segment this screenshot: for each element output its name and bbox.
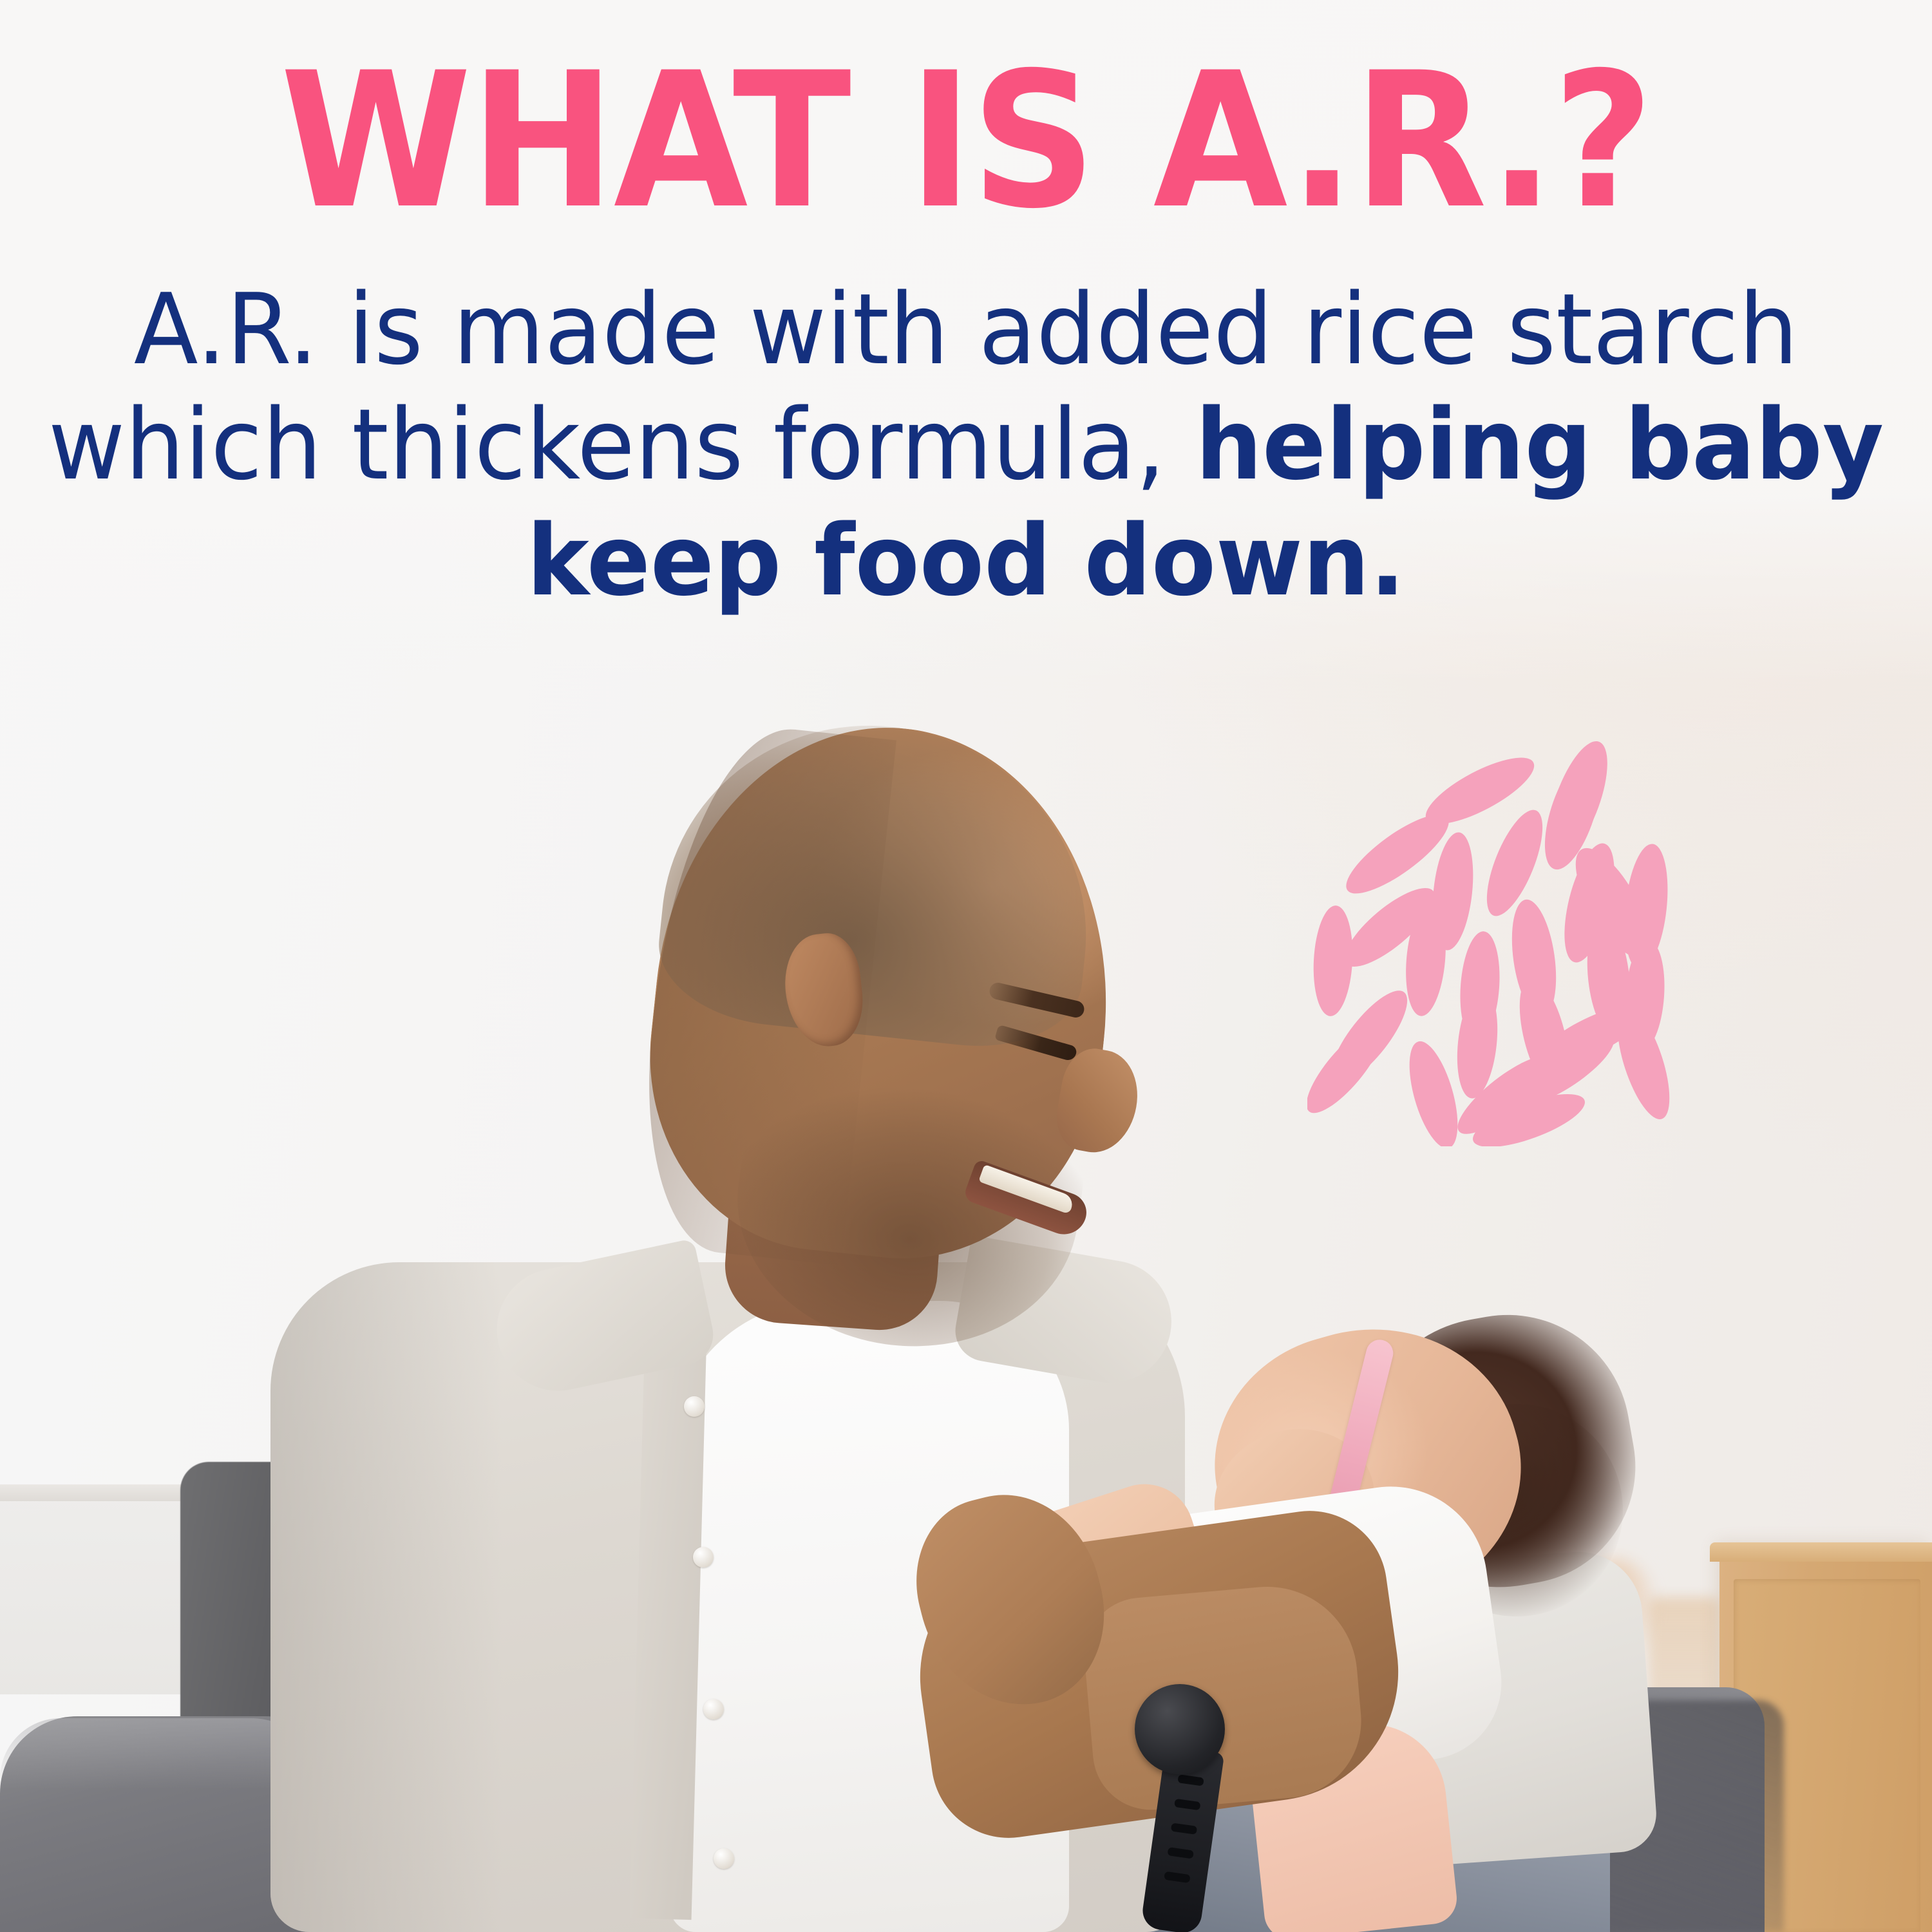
rice-grain [1311, 905, 1356, 1018]
subcopy-line-2-regular: which thickens formula, [48, 388, 1195, 502]
subcopy-line-2-bold: helping baby [1195, 388, 1884, 502]
shirt-button [684, 1396, 705, 1417]
father-torso-shadow [270, 1262, 502, 1932]
page-title: WHAT IS A.R.? [68, 0, 1864, 237]
subcopy-line-1: A.R. is made with added rice starch [39, 272, 1893, 387]
rice-grain [1475, 803, 1554, 923]
shirt-button [693, 1547, 714, 1567]
father-forearm [1079, 1579, 1367, 1814]
subcopy-line-3: keep food down. [39, 503, 1893, 618]
shirt-button [714, 1848, 734, 1869]
rice-grain-cluster-icon [1307, 734, 1694, 1146]
copy-block: WHAT IS A.R.? A.R. is made with added ri… [0, 0, 1932, 618]
shirt-button [703, 1699, 724, 1719]
subcopy-line-2: which thickens formula, helping baby [39, 387, 1893, 502]
wrist-watch [1135, 1684, 1225, 1774]
rice-grain [1399, 1036, 1467, 1146]
wooden-cabinet-top [1710, 1542, 1932, 1562]
poster-canvas: WHAT IS A.R.? A.R. is made with added ri… [0, 0, 1932, 1932]
subcopy: A.R. is made with added rice starch whic… [39, 237, 1893, 618]
